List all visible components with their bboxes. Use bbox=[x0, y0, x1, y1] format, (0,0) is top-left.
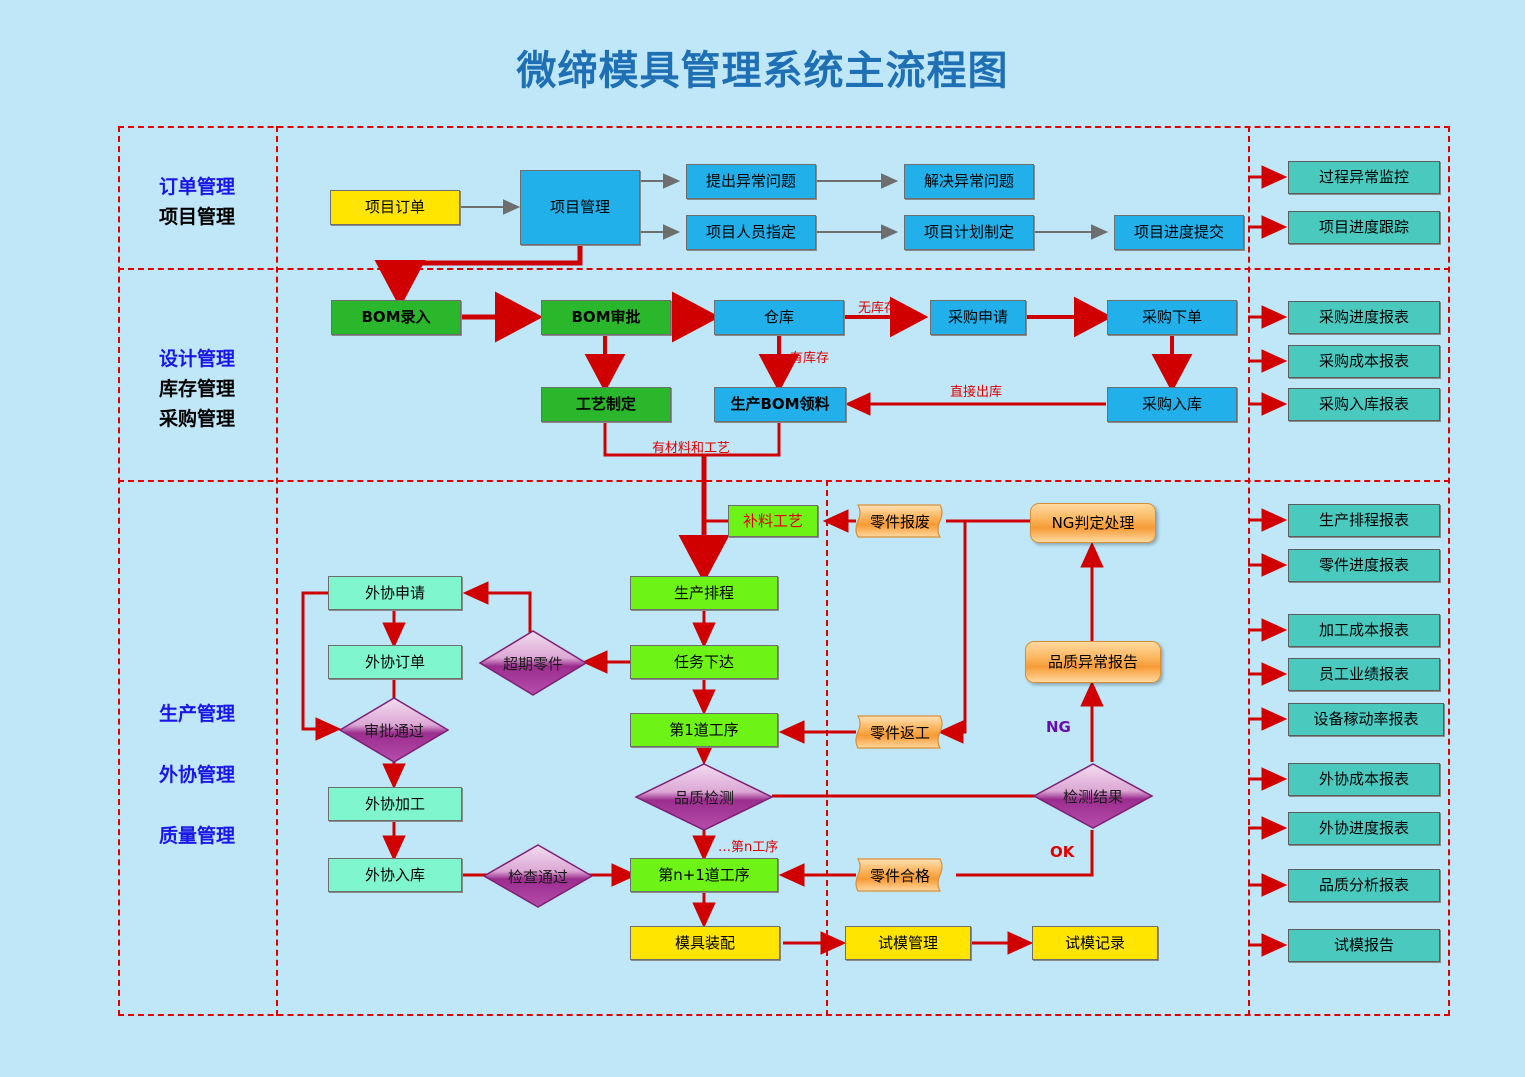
decision-quality-check-label: 品质检测 bbox=[634, 762, 774, 832]
report-purchase-inbound[interactable]: 采购入库报表 bbox=[1288, 388, 1440, 421]
node-process-plan[interactable]: 工艺制定 bbox=[541, 387, 671, 422]
report-trial-mold[interactable]: 试模报告 bbox=[1288, 929, 1440, 962]
node-solve-issue[interactable]: 解决异常问题 bbox=[904, 164, 1034, 199]
section-label-production: 生产管理 外协管理 质量管理 bbox=[117, 684, 277, 867]
report-prod-schedule[interactable]: 生产排程报表 bbox=[1288, 504, 1440, 537]
decision-check-pass-label: 检查通过 bbox=[482, 843, 594, 909]
node-project-mgmt[interactable]: 项目管理 bbox=[520, 170, 640, 245]
decision-overdue-parts-label: 超期零件 bbox=[478, 629, 588, 697]
node-raise-issue[interactable]: 提出异常问题 bbox=[686, 164, 816, 199]
edge-label-has-material-process: 有材料和工艺 bbox=[652, 437, 730, 456]
node-submit-progress[interactable]: 项目进度提交 bbox=[1114, 215, 1244, 250]
node-production-bom-pick[interactable]: 生产BOM领料 bbox=[714, 387, 846, 422]
section-label-order-2: 项目管理 bbox=[117, 202, 277, 232]
section-divider-order-design bbox=[118, 268, 1450, 270]
node-part-scrap[interactable]: 零件报废 bbox=[852, 503, 948, 539]
section-label-design-2: 库存管理 bbox=[117, 374, 277, 404]
decision-quality-check[interactable]: 品质检测 bbox=[634, 762, 774, 832]
report-project-progress-tracking[interactable]: 项目进度跟踪 bbox=[1288, 211, 1440, 244]
section-label-order-1: 订单管理 bbox=[117, 172, 277, 202]
report-outsource-cost[interactable]: 外协成本报表 bbox=[1288, 763, 1440, 796]
node-purchase-request[interactable]: 采购申请 bbox=[930, 300, 1026, 335]
section-divider-design-production bbox=[118, 480, 1450, 482]
node-quality-abnormal-report[interactable]: 品质异常报告 bbox=[1025, 641, 1161, 683]
report-purchase-cost[interactable]: 采购成本报表 bbox=[1288, 345, 1440, 378]
node-mold-assembly[interactable]: 模具装配 bbox=[630, 926, 780, 960]
section-label-design-1: 设计管理 bbox=[117, 344, 277, 374]
node-process-1[interactable]: 第1道工序 bbox=[630, 713, 778, 747]
node-assign-staff[interactable]: 项目人员指定 bbox=[686, 215, 816, 250]
section-label-production-3: 质量管理 bbox=[117, 806, 277, 867]
node-outsource-request[interactable]: 外协申请 bbox=[328, 576, 462, 610]
decision-check-result[interactable]: 检测结果 bbox=[1032, 762, 1154, 830]
node-part-scrap-label: 零件报废 bbox=[852, 503, 948, 539]
section-label-design-3: 采购管理 bbox=[117, 404, 277, 434]
edge-label-nth-process: …第n工序 bbox=[718, 836, 778, 855]
section-label-production-1: 生产管理 bbox=[117, 684, 277, 745]
node-bom-entry[interactable]: BOM录入 bbox=[331, 300, 461, 335]
node-bom-approval[interactable]: BOM审批 bbox=[541, 300, 671, 335]
node-warehouse[interactable]: 仓库 bbox=[714, 300, 844, 335]
label-column-divider bbox=[276, 126, 278, 1016]
decision-approval-pass[interactable]: 审批通过 bbox=[338, 696, 450, 764]
node-trial-mgmt[interactable]: 试模管理 bbox=[845, 926, 971, 960]
decision-overdue-parts[interactable]: 超期零件 bbox=[478, 629, 588, 697]
node-make-plan[interactable]: 项目计划制定 bbox=[904, 215, 1034, 250]
report-employee-performance[interactable]: 员工业绩报表 bbox=[1288, 658, 1440, 691]
page-title: 微缔模具管理系统主流程图 bbox=[0, 38, 1525, 96]
report-machining-cost[interactable]: 加工成本报表 bbox=[1288, 614, 1440, 647]
section-label-design: 设计管理 库存管理 采购管理 bbox=[117, 344, 277, 434]
edge-label-ok: OK bbox=[1050, 843, 1074, 861]
node-task-release[interactable]: 任务下达 bbox=[630, 645, 778, 679]
node-part-qualified[interactable]: 零件合格 bbox=[852, 857, 948, 893]
node-outsource-inbound[interactable]: 外协入库 bbox=[328, 858, 462, 892]
node-process-1-label: 第1道工序 bbox=[669, 722, 739, 739]
report-equipment-utilization[interactable]: 设备稼动率报表 bbox=[1288, 703, 1444, 736]
node-project-order[interactable]: 项目订单 bbox=[330, 190, 460, 225]
report-part-progress[interactable]: 零件进度报表 bbox=[1288, 549, 1440, 582]
edge-label-has-stock: 有库存 bbox=[790, 347, 829, 366]
diagram-outer-frame bbox=[118, 126, 1450, 1016]
node-replenish-process[interactable]: 补料工艺 bbox=[728, 505, 818, 537]
edge-label-no-stock: 无库存 bbox=[858, 297, 897, 316]
decision-approval-pass-label: 审批通过 bbox=[338, 696, 450, 764]
report-process-abnormal-monitor[interactable]: 过程异常监控 bbox=[1288, 161, 1440, 194]
production-inner-divider bbox=[826, 480, 828, 1016]
edge-label-ng: NG bbox=[1046, 718, 1071, 736]
node-outsource-order[interactable]: 外协订单 bbox=[328, 645, 462, 679]
node-part-rework[interactable]: 零件返工 bbox=[852, 714, 948, 750]
decision-check-result-label: 检测结果 bbox=[1032, 762, 1154, 830]
report-quality-analysis[interactable]: 品质分析报表 bbox=[1288, 869, 1440, 902]
report-purchase-progress[interactable]: 采购进度报表 bbox=[1288, 301, 1440, 334]
decision-check-pass[interactable]: 检查通过 bbox=[482, 843, 594, 909]
node-part-qualified-label: 零件合格 bbox=[852, 857, 948, 893]
node-part-rework-label: 零件返工 bbox=[852, 714, 948, 750]
node-process-n-plus-1[interactable]: 第n+1道工序 bbox=[630, 858, 778, 892]
section-label-production-2: 外协管理 bbox=[117, 745, 277, 806]
node-purchase-inbound[interactable]: 采购入库 bbox=[1107, 387, 1237, 422]
node-purchase-order[interactable]: 采购下单 bbox=[1107, 300, 1237, 335]
node-prod-schedule[interactable]: 生产排程 bbox=[630, 576, 778, 610]
section-label-order: 订单管理 项目管理 bbox=[117, 172, 277, 232]
node-outsource-machining[interactable]: 外协加工 bbox=[328, 787, 462, 821]
report-column-divider bbox=[1248, 126, 1250, 1016]
node-ng-handling[interactable]: NG判定处理 bbox=[1030, 503, 1156, 543]
node-trial-record[interactable]: 试模记录 bbox=[1032, 926, 1158, 960]
report-outsource-progress[interactable]: 外协进度报表 bbox=[1288, 812, 1440, 845]
edge-label-direct-out: 直接出库 bbox=[950, 381, 1002, 400]
node-process-n-plus-1-label: 第n+1道工序 bbox=[658, 867, 750, 884]
